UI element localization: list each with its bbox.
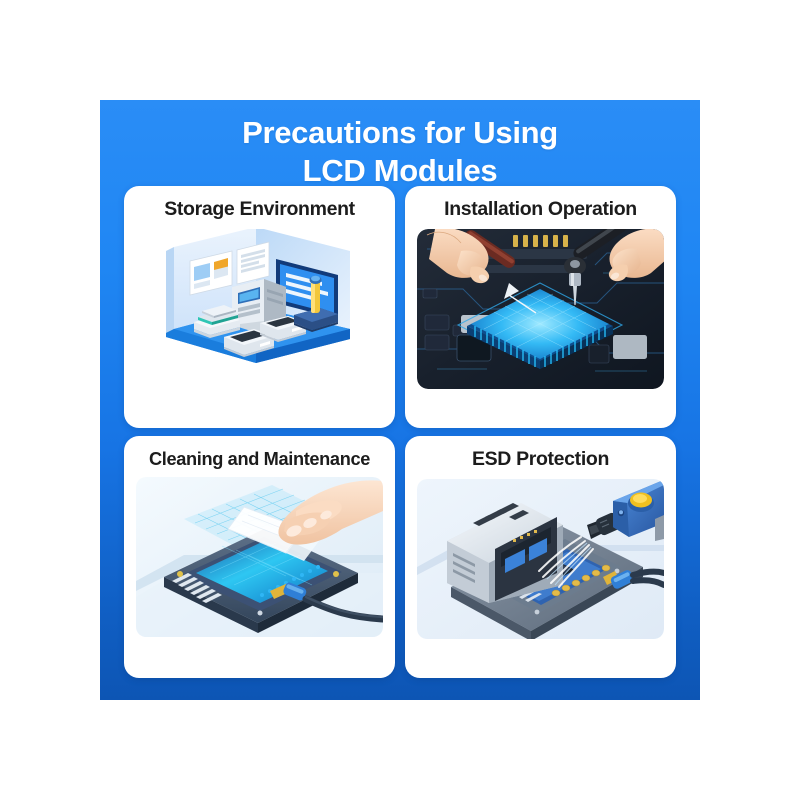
illustration-esd-protection [417,479,664,639]
page-title-line-1: Precautions for Using [242,115,558,150]
card-grid: Storage Environment [124,186,676,678]
page-root: Precautions for Using LCD Modules Storag… [0,0,800,800]
illustration-cleaning-and-maintenance [136,477,383,637]
card-title-installation-operation: Installation Operation [444,200,637,220]
hand-wiping-screen-icon [136,477,383,637]
page-title-line-2: LCD Modules [100,152,700,190]
card-title-esd-protection: ESD Protection [472,450,609,470]
page-title: Precautions for Using LCD Modules [100,114,700,190]
hands-installing-chip-icon [417,229,664,389]
card-esd-protection[interactable]: ESD Protection [405,436,676,678]
illustration-installation-operation [417,229,664,389]
ionizer-blower-icon [417,479,664,639]
blue-panel: Precautions for Using LCD Modules Storag… [100,100,700,700]
card-installation-operation[interactable]: Installation Operation [405,186,676,428]
isometric-storage-room-icon [136,229,383,389]
card-storage-environment[interactable]: Storage Environment [124,186,395,428]
illustration-storage-environment [136,229,383,389]
card-title-cleaning-and-maintenance: Cleaning and Maintenance [149,450,370,468]
card-cleaning-and-maintenance[interactable]: Cleaning and Maintenance [124,436,395,678]
card-title-storage-environment: Storage Environment [164,200,355,220]
